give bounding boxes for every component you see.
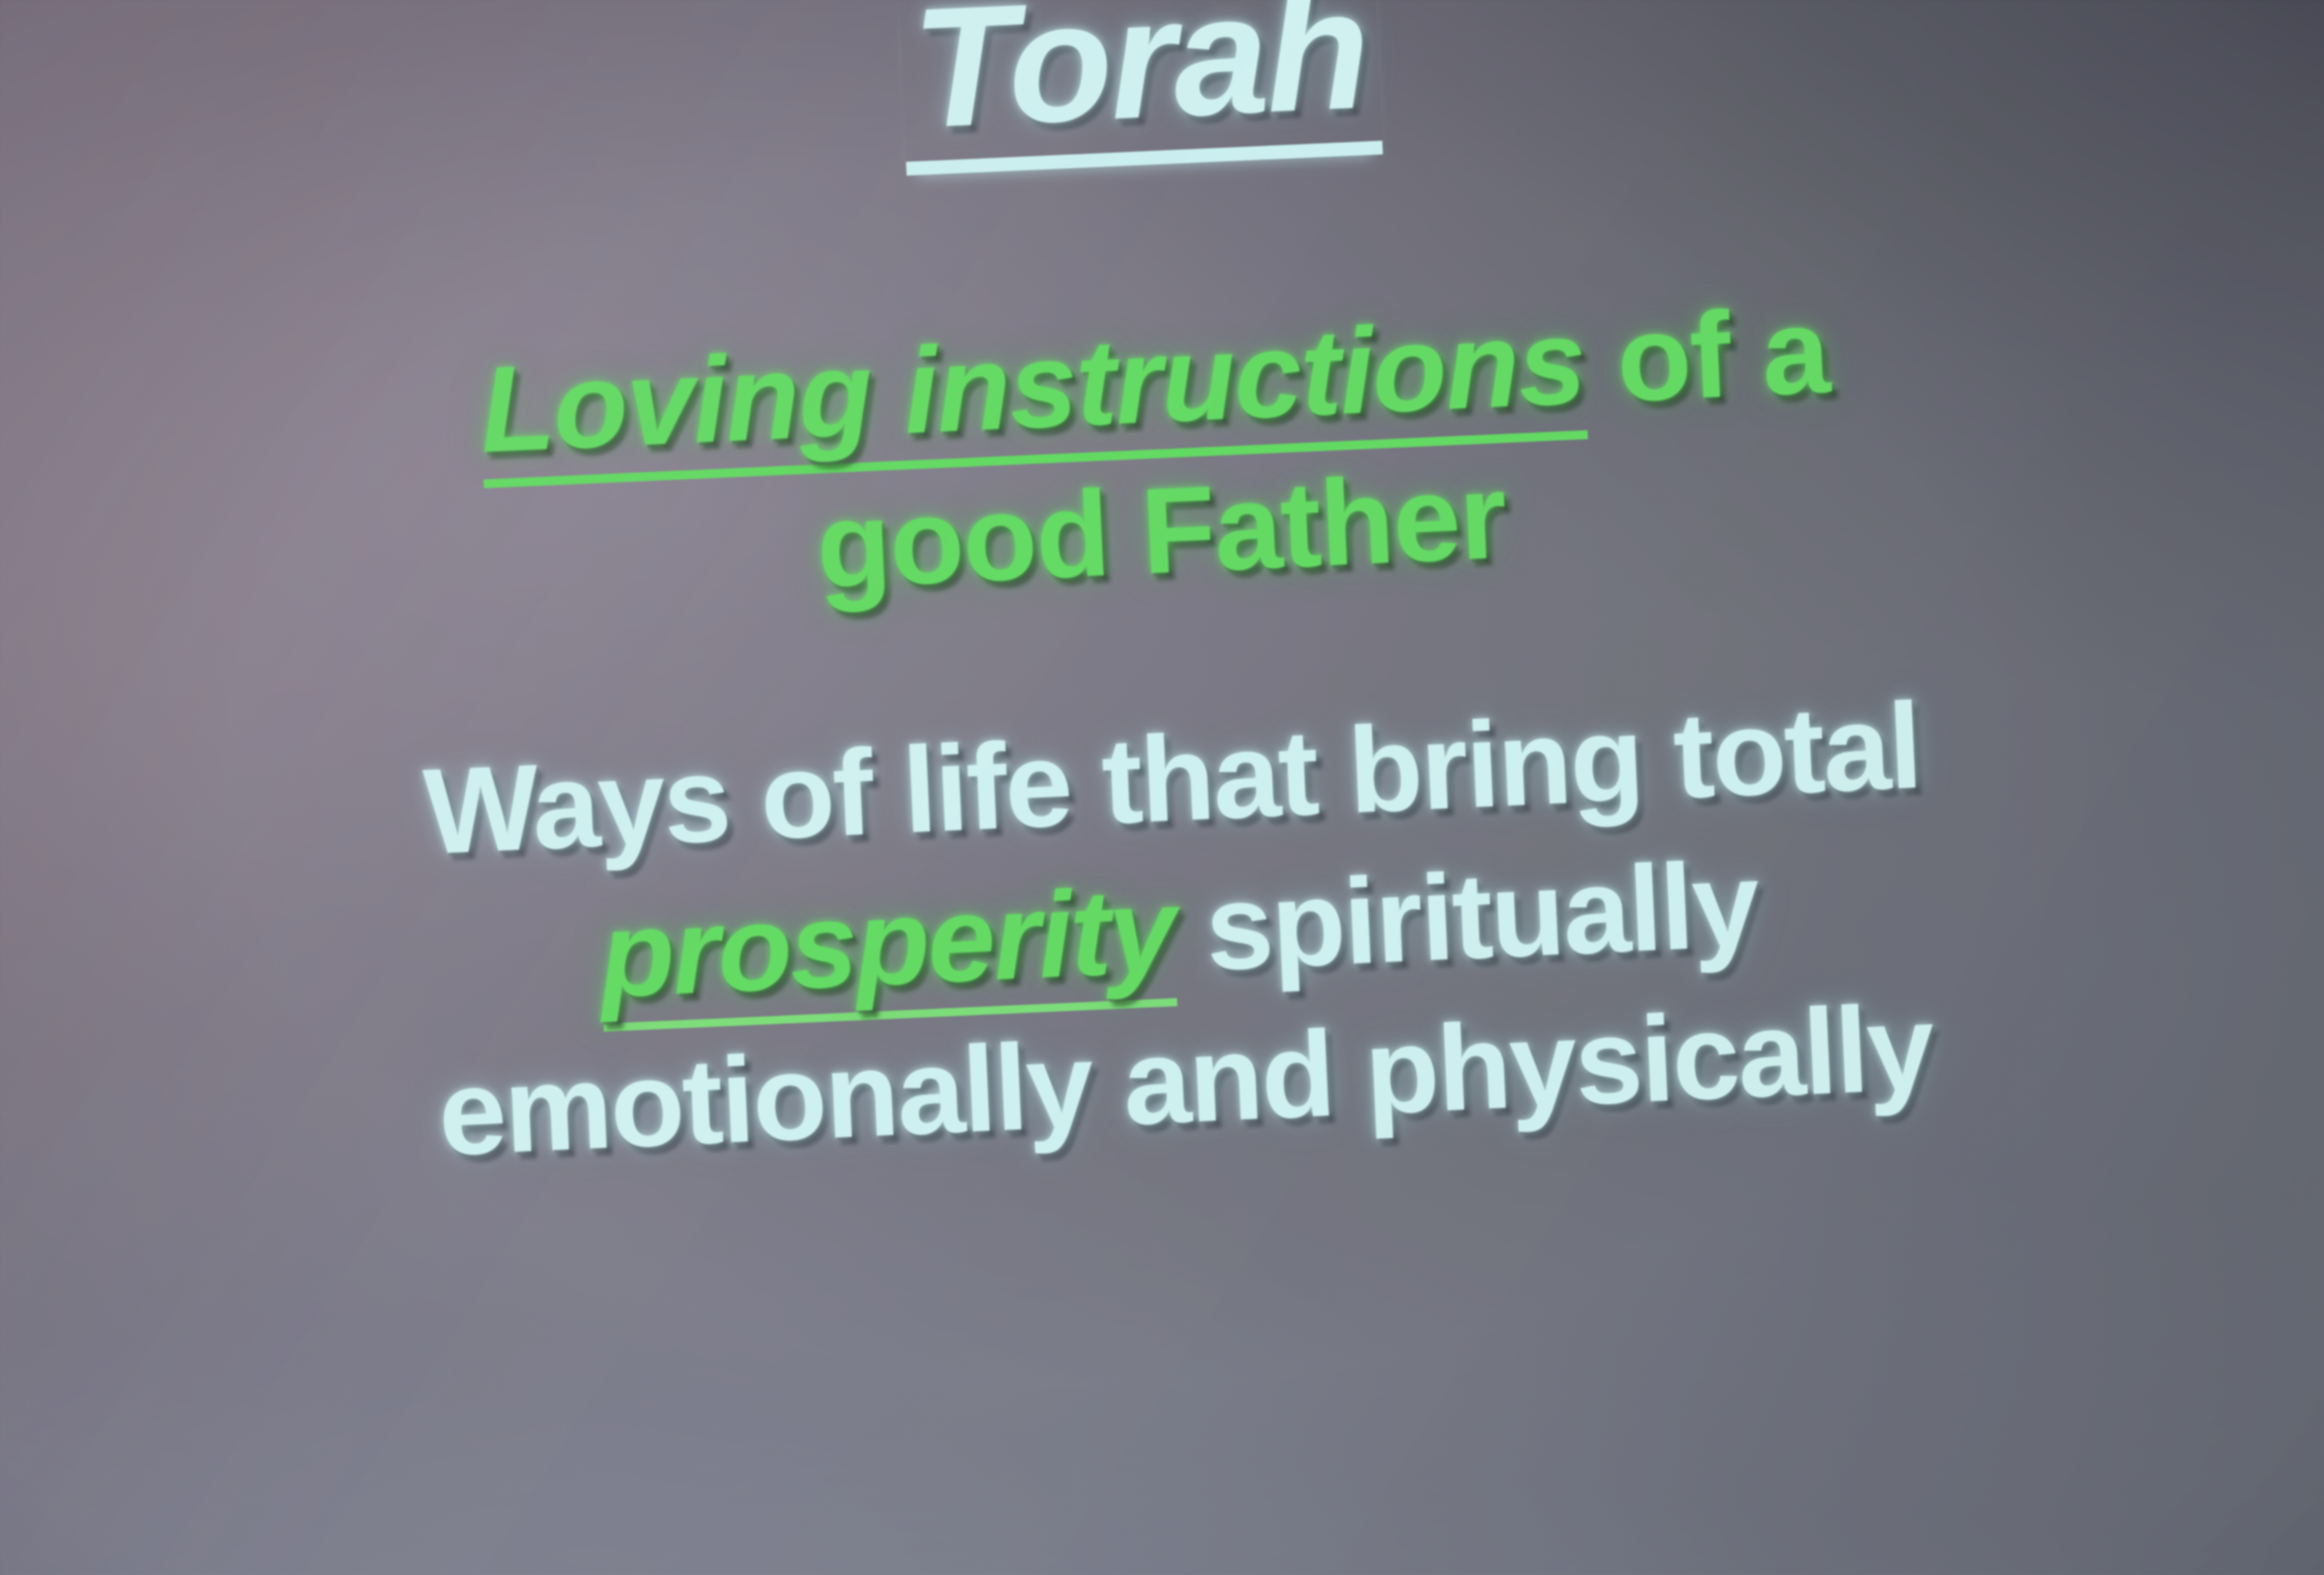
text-spiritually: spiritually xyxy=(1171,835,1761,997)
bullet-item-1: Loving instructions of a good Father xyxy=(0,250,2324,660)
slide-title: Torah xyxy=(898,0,1383,175)
emphasis-prosperity: prosperity xyxy=(597,861,1177,1032)
slide-bullet-list: Loving instructions of a good Father Way… xyxy=(0,250,2324,1210)
projected-slide: Torah Loving instructions of a good Fath… xyxy=(0,0,2324,1575)
slide-photo: Torah Loving instructions of a good Fath… xyxy=(0,0,2324,1575)
text-of-a: of a xyxy=(1582,281,1831,428)
slide-title-row: Torah xyxy=(0,0,2324,219)
text-good-father: good Father xyxy=(814,447,1509,614)
bullet-item-2: Ways of life that bring total prosperity… xyxy=(0,649,2324,1210)
